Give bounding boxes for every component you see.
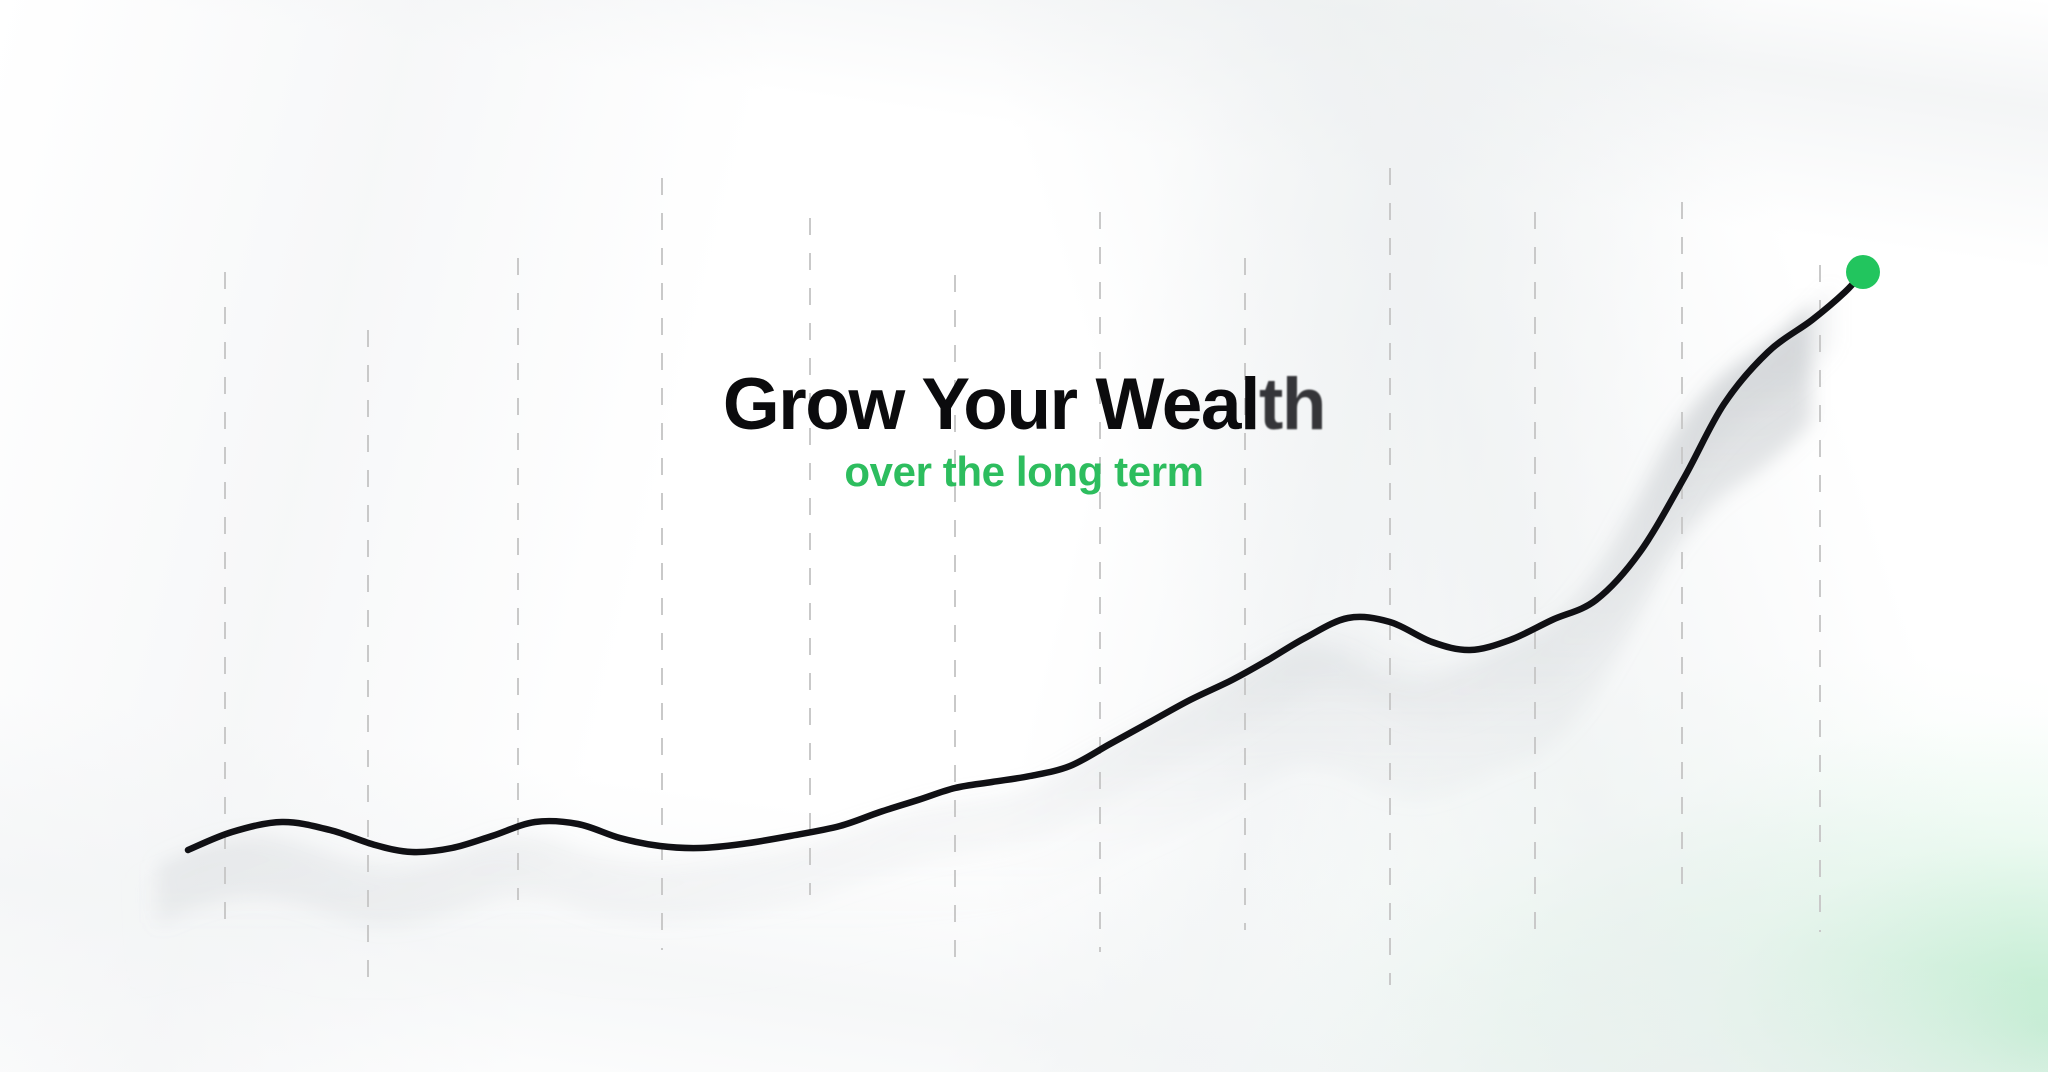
end-point-dot [1846,255,1880,289]
hero-scene: Grow Your Wealth over the long term [0,0,2048,1072]
growth-line-chart [0,0,2048,1072]
